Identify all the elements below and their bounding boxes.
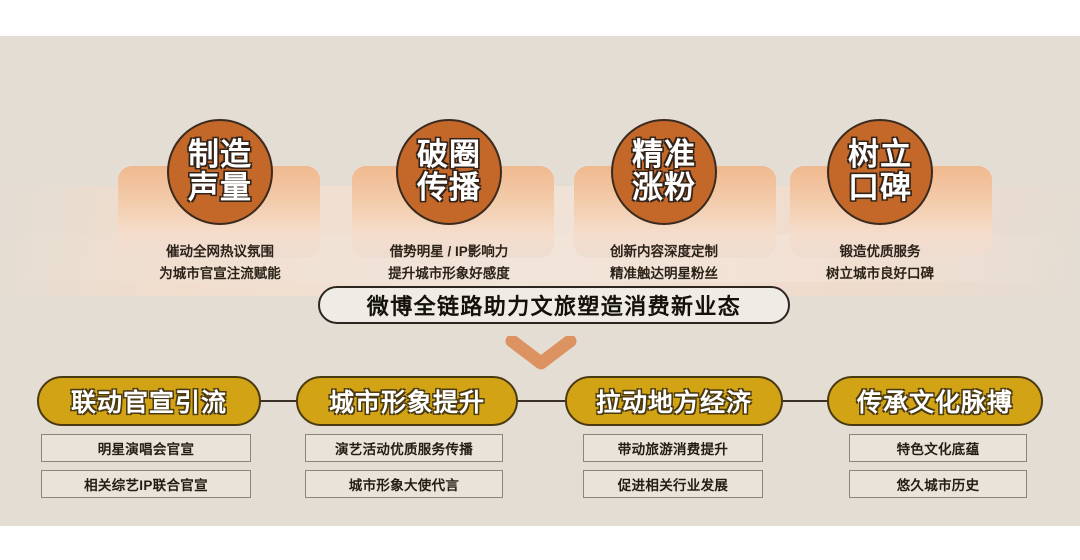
pillar-bubble-4[interactable]: 树立 口碑 — [827, 119, 933, 225]
outcome-2-item-2[interactable]: 城市形象大使代言 — [305, 470, 503, 498]
pillar-description-2-line-2: 提升城市形象好感度 — [334, 263, 564, 285]
outcome-4-item-1[interactable]: 特色文化底蕴 — [849, 434, 1027, 462]
outcome-pill-1-label: 联动官宣引流 — [71, 383, 227, 419]
outcome-pill-3[interactable]: 拉动地方经济 — [565, 376, 783, 426]
pillar-description-3: 创新内容深度定制 精准触达明星粉丝 — [549, 241, 779, 285]
outcome-1-item-1[interactable]: 明星演唱会官宣 — [41, 434, 251, 462]
center-banner: 微博全链路助力文旅塑造消费新业态 — [318, 286, 790, 324]
outcome-2-item-1-label: 演艺活动优质服务传播 — [335, 438, 473, 458]
outcome-3-item-1-label: 带动旅游消费提升 — [618, 438, 728, 458]
pillar-description-2-line-1: 借势明星 / IP影响力 — [334, 241, 564, 263]
outcome-pill-3-label: 拉动地方经济 — [596, 383, 752, 419]
pillar-bubble-1-line-1: 制造 — [188, 139, 252, 172]
pillar-description-1: 催动全网热议氛围 为城市官宣注流赋能 — [105, 241, 335, 285]
outcome-4-item-2[interactable]: 悠久城市历史 — [849, 470, 1027, 498]
pillar-bubble-3-line-2: 涨粉 — [632, 172, 696, 205]
outcome-4-item-1-label: 特色文化底蕴 — [897, 438, 980, 458]
pillar-bubble-3-line-1: 精准 — [632, 139, 696, 172]
outcome-3-item-2[interactable]: 促进相关行业发展 — [583, 470, 763, 498]
pillar-bubble-4-line-1: 树立 — [848, 139, 912, 172]
outcome-2-item-2-label: 城市形象大使代言 — [349, 474, 459, 494]
outcome-3-item-2-label: 促进相关行业发展 — [618, 474, 728, 494]
pillar-description-1-line-1: 催动全网热议氛围 — [105, 241, 335, 263]
pillar-bubble-4-line-2: 口碑 — [848, 172, 912, 205]
outcome-pill-2-label: 城市形象提升 — [329, 383, 485, 419]
outcome-pill-4[interactable]: 传承文化脉搏 — [827, 376, 1043, 426]
infographic-canvas: 制造 声量 破圈 传播 精准 涨粉 树立 口碑 催动全网热议氛围 为城市官宣注流… — [0, 0, 1080, 560]
outcome-1-item-1-label: 明星演唱会官宣 — [98, 438, 195, 458]
outcome-pill-4-label: 传承文化脉搏 — [857, 383, 1013, 419]
pillar-bubble-2-line-2: 传播 — [417, 172, 481, 205]
outcome-1-item-2[interactable]: 相关综艺IP联合官宣 — [41, 470, 251, 498]
outcome-pill-2[interactable]: 城市形象提升 — [296, 376, 518, 426]
pillar-description-4-line-1: 锻造优质服务 — [765, 241, 995, 263]
center-banner-label: 微博全链路助力文旅塑造消费新业态 — [367, 289, 741, 321]
pillar-bubble-2-line-1: 破圈 — [417, 139, 481, 172]
pillar-bubble-3[interactable]: 精准 涨粉 — [611, 119, 717, 225]
outcome-3-item-1[interactable]: 带动旅游消费提升 — [583, 434, 763, 462]
pillar-bubble-2[interactable]: 破圈 传播 — [396, 119, 502, 225]
outcome-pill-1[interactable]: 联动官宣引流 — [37, 376, 261, 426]
outcome-2-item-1[interactable]: 演艺活动优质服务传播 — [305, 434, 503, 462]
pillar-description-3-line-2: 精准触达明星粉丝 — [549, 263, 779, 285]
pillar-bubble-1[interactable]: 制造 声量 — [167, 119, 273, 225]
pillar-description-2: 借势明星 / IP影响力 提升城市形象好感度 — [334, 241, 564, 285]
pillar-description-4-line-2: 树立城市良好口碑 — [765, 263, 995, 285]
pillar-description-4: 锻造优质服务 树立城市良好口碑 — [765, 241, 995, 285]
outcome-1-item-2-label: 相关综艺IP联合官宣 — [84, 474, 208, 494]
pillar-description-1-line-2: 为城市官宣注流赋能 — [105, 263, 335, 285]
chevron-down-icon — [505, 336, 577, 370]
outcome-4-item-2-label: 悠久城市历史 — [897, 474, 980, 494]
pillar-description-3-line-1: 创新内容深度定制 — [549, 241, 779, 263]
pillar-bubble-1-line-2: 声量 — [188, 172, 252, 205]
infographic-stage: 制造 声量 破圈 传播 精准 涨粉 树立 口碑 催动全网热议氛围 为城市官宣注流… — [0, 36, 1080, 526]
